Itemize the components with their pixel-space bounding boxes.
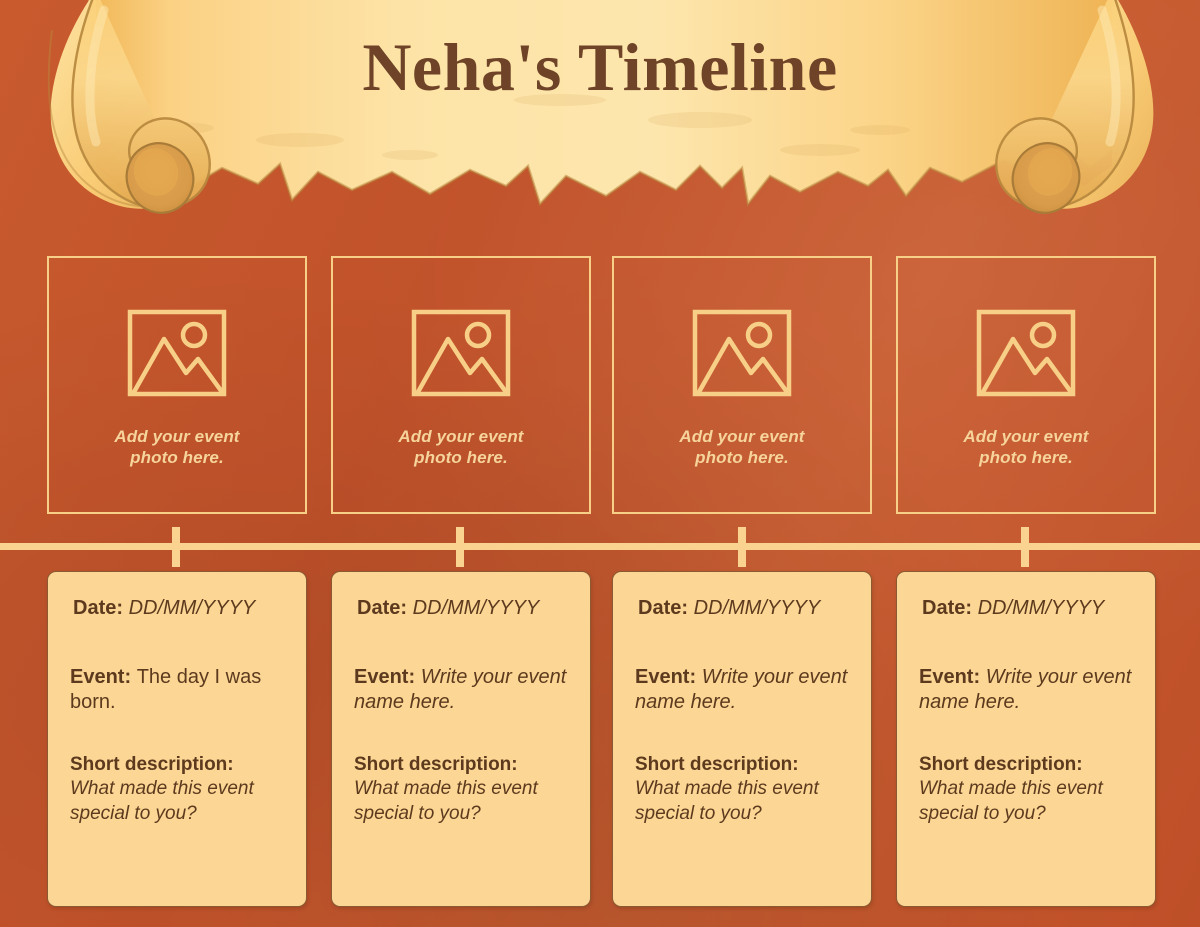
caption-line-2: photo here. [679,447,804,468]
timeline-tick-1 [172,527,180,567]
photo-placeholder-caption: Add your event photo here. [114,426,239,469]
card-date-row: Date: DD/MM/YYYY [922,596,1135,622]
event-label: Event: [635,666,702,688]
date-value[interactable]: DD/MM/YYYY [129,597,256,619]
card-date-row: Date: DD/MM/YYYY [73,596,286,622]
date-label: Date: [638,597,694,619]
photo-placeholder-1[interactable]: Add your event photo here. [47,256,307,514]
timeline-axis [0,543,1200,550]
event-label: Event: [70,666,137,688]
card-description-row: Short description: What made this event … [70,753,286,827]
card-event-row: Event: Write your event name here. [354,665,570,716]
description-value[interactable]: What made this event special to you? [919,777,1135,826]
date-label: Date: [73,597,129,619]
image-placeholder-icon [124,302,230,406]
scroll-banner: Neha's Timeline [0,0,1200,232]
event-card-3[interactable]: Date: DD/MM/YYYY Event: Write your event… [612,571,872,907]
description-label: Short description: [635,753,851,778]
photo-placeholder-2[interactable]: Add your event photo here. [331,256,591,514]
date-value[interactable]: DD/MM/YYYY [413,597,540,619]
timeline-tick-3 [738,527,746,567]
caption-line-2: photo here. [114,447,239,468]
caption-line-2: photo here. [398,447,523,468]
date-label: Date: [922,597,978,619]
timeline-tick-2 [456,527,464,567]
card-event-row: Event: The day I was born. [70,665,286,716]
caption-line-1: Add your event [114,426,239,447]
card-description-row: Short description: What made this event … [635,753,851,827]
image-placeholder-icon [408,302,514,406]
description-label: Short description: [354,753,570,778]
photo-placeholder-caption: Add your event photo here. [398,426,523,469]
description-label: Short description: [919,753,1135,778]
photo-placeholder-4[interactable]: Add your event photo here. [896,256,1156,514]
photo-placeholder-3[interactable]: Add your event photo here. [612,256,872,514]
description-label: Short description: [70,753,286,778]
photo-placeholder-row: Add your event photo here. Add your even… [0,256,1200,516]
event-label: Event: [919,666,986,688]
image-placeholder-icon [689,302,795,406]
card-description-row: Short description: What made this event … [919,753,1135,827]
caption-line-2: photo here. [963,447,1088,468]
card-date-row: Date: DD/MM/YYYY [357,596,570,622]
date-label: Date: [357,597,413,619]
event-card-row: Date: DD/MM/YYYY Event: The day I was bo… [0,571,1200,907]
page-title: Neha's Timeline [0,33,1200,101]
event-card-2[interactable]: Date: DD/MM/YYYY Event: Write your event… [331,571,591,907]
description-value[interactable]: What made this event special to you? [70,777,286,826]
date-value[interactable]: DD/MM/YYYY [978,597,1105,619]
card-event-row: Event: Write your event name here. [919,665,1135,716]
event-card-4[interactable]: Date: DD/MM/YYYY Event: Write your event… [896,571,1156,907]
caption-line-1: Add your event [398,426,523,447]
photo-placeholder-caption: Add your event photo here. [963,426,1088,469]
card-description-row: Short description: What made this event … [354,753,570,827]
event-label: Event: [354,666,421,688]
timeline-tick-4 [1021,527,1029,567]
card-event-row: Event: Write your event name here. [635,665,851,716]
description-value[interactable]: What made this event special to you? [635,777,851,826]
caption-line-1: Add your event [679,426,804,447]
card-date-row: Date: DD/MM/YYYY [638,596,851,622]
date-value[interactable]: DD/MM/YYYY [694,597,821,619]
caption-line-1: Add your event [963,426,1088,447]
photo-placeholder-caption: Add your event photo here. [679,426,804,469]
image-placeholder-icon [973,302,1079,406]
event-card-1[interactable]: Date: DD/MM/YYYY Event: The day I was bo… [47,571,307,907]
description-value[interactable]: What made this event special to you? [354,777,570,826]
